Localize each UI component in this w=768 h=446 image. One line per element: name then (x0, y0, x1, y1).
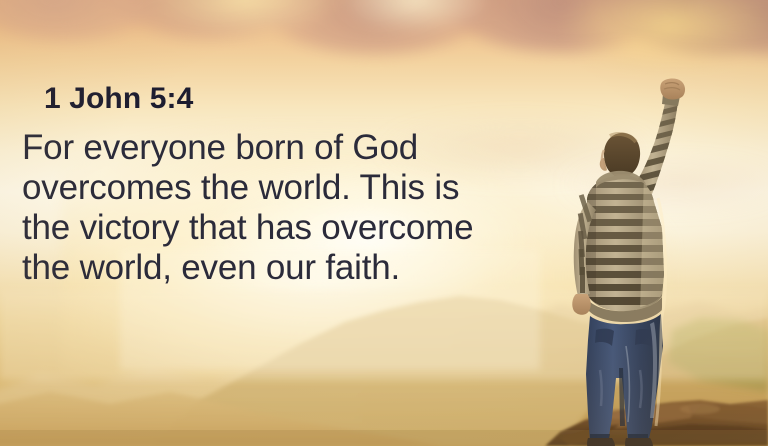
verse-line: overcomes the world. This is (22, 168, 582, 208)
verse-line: the world, even our faith. (22, 248, 582, 288)
verse-line: the victory that has overcome (22, 208, 582, 248)
head (600, 133, 640, 177)
person-figure (566, 78, 706, 446)
scripture-verse: For everyone born of God overcomes the w… (22, 128, 582, 288)
boots (587, 438, 653, 446)
scripture-image-canvas: 1 John 5:4 For everyone born of God over… (0, 0, 768, 446)
verse-line: For everyone born of God (22, 128, 582, 168)
jeans (586, 314, 663, 444)
scripture-reference: 1 John 5:4 (44, 84, 193, 114)
raised-fist (660, 78, 685, 99)
left-hand (572, 294, 590, 315)
